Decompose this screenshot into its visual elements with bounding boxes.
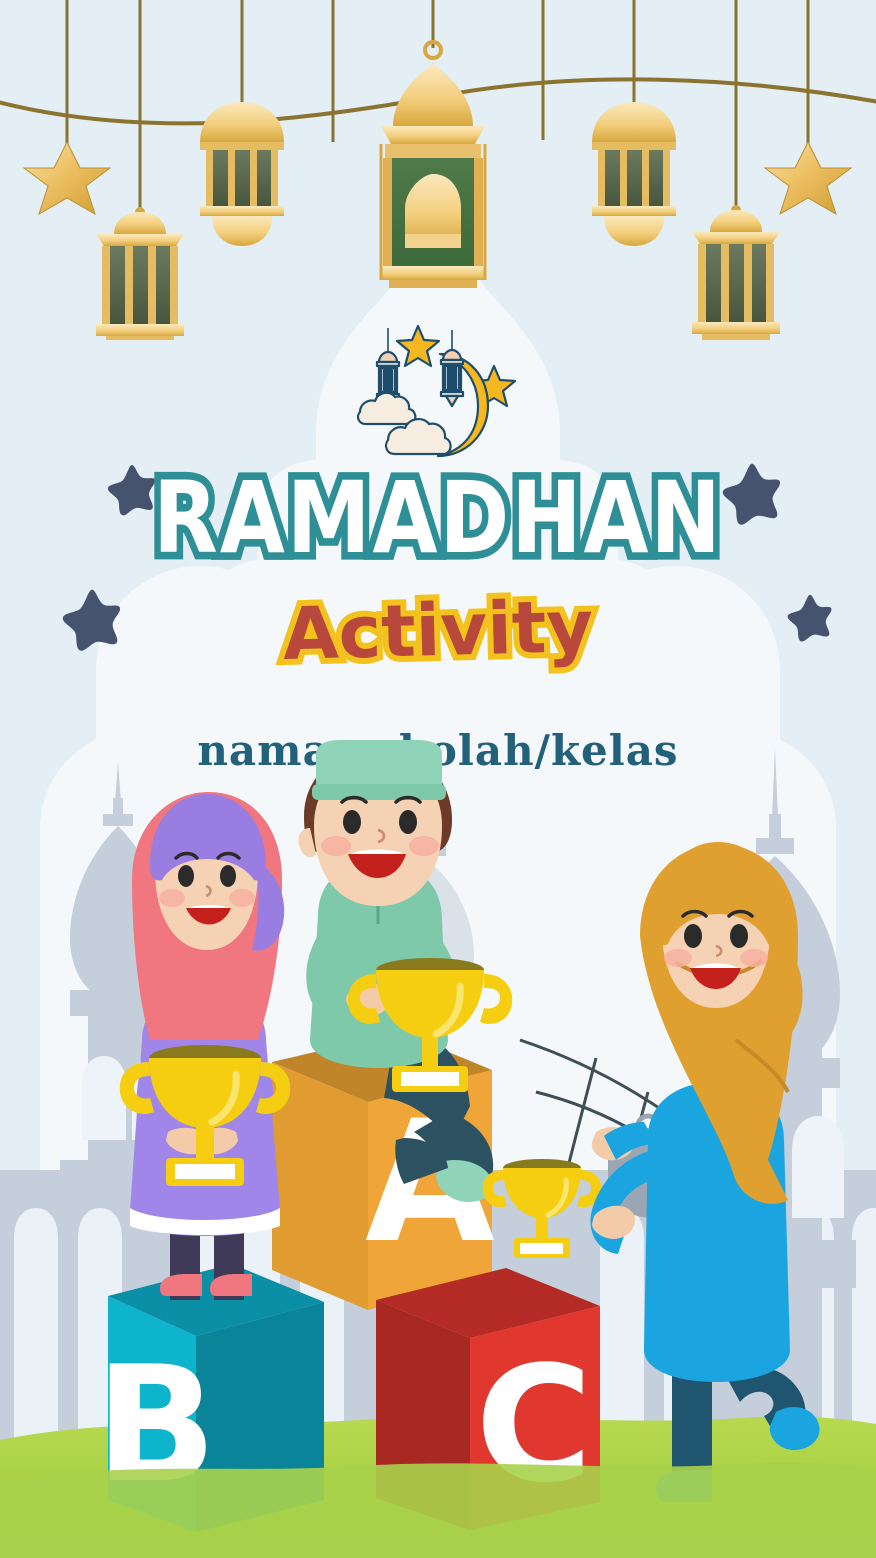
poster-title-block: RAMADHAN Activity [0, 468, 876, 666]
lantern-icon [381, 42, 485, 288]
lantern-icon [692, 205, 780, 340]
child-girl-purple [120, 792, 291, 1300]
crescent-moon-icon [524, 112, 557, 178]
grass-foreground [0, 1462, 876, 1558]
star-icon [24, 142, 110, 214]
page-subtitle: Activity [0, 583, 876, 678]
lantern-icon [96, 207, 184, 340]
crescent-moon-icon [319, 112, 352, 178]
lantern-icon [200, 102, 284, 246]
page-title: RAMADHAN [0, 468, 876, 567]
star-icon [765, 142, 851, 214]
poster-canvas: RAMADHAN Activity nama sekolah/kelas [0, 0, 876, 1558]
hanging-decorations [0, 0, 876, 340]
scene-kids-blocks-trophies: A B C [0, 740, 876, 1558]
lantern-icon [592, 102, 676, 246]
crescent-moon-lantern-ornament [338, 312, 538, 472]
